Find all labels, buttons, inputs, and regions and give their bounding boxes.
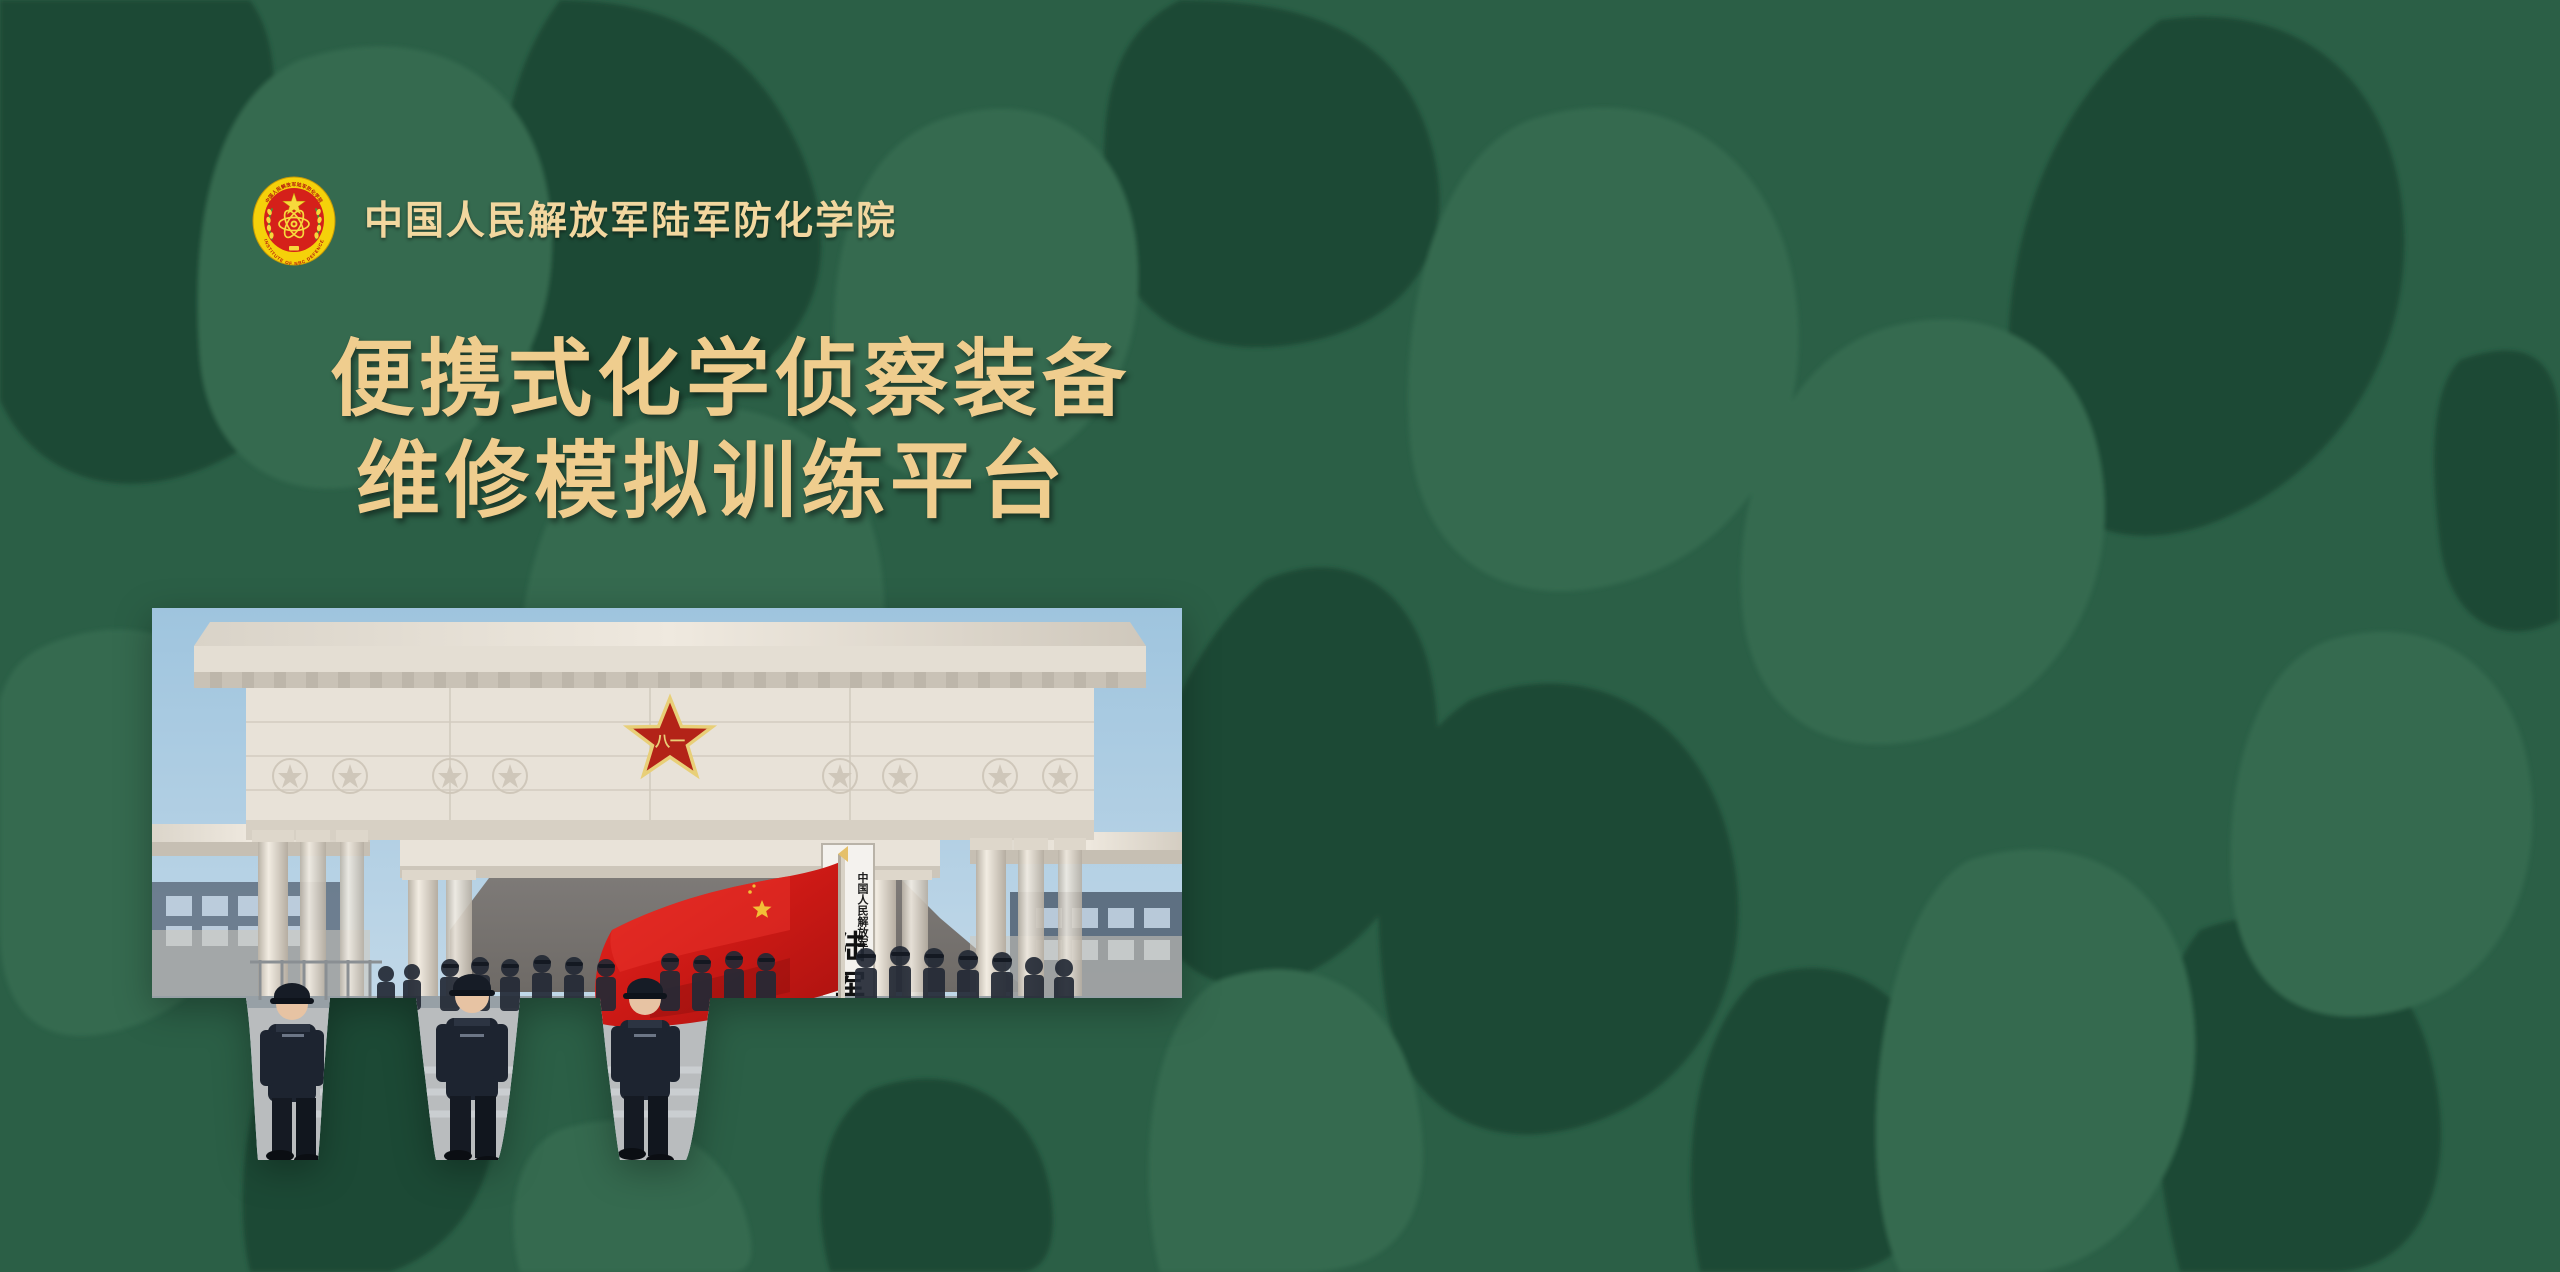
gate-star-label: 八一: [654, 734, 685, 750]
academy-photo: 八一: [150, 600, 1190, 1160]
page-title: 便携式化学侦察装备 维修模拟训练平台: [330, 330, 1131, 535]
splash-screen: 中国人民解放军陆军防化学院 INSTITUTE OF NBC DEFENCE: [0, 0, 2560, 1272]
title-line-1: 便携式化学侦察装备: [330, 330, 1131, 432]
institute-name: 中国人民解放军陆军防化学院: [364, 202, 897, 241]
title-line-2: 维修模拟训练平台: [330, 432, 1131, 534]
header: 中国人民解放军陆军防化学院 INSTITUTE OF NBC DEFENCE: [252, 176, 897, 266]
academy-emblem-icon: 中国人民解放军陆军防化学院 INSTITUTE OF NBC DEFENCE: [252, 176, 336, 266]
